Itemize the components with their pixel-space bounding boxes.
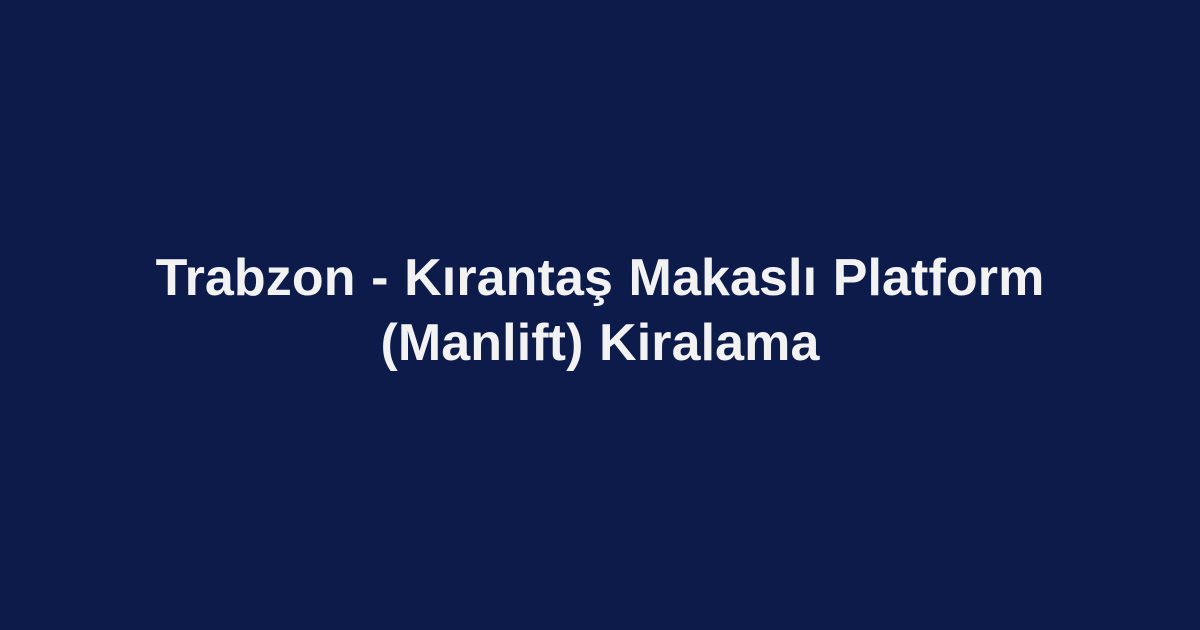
page-title: Trabzon - Kırantaş Makaslı Platform (Man… — [120, 246, 1080, 376]
share-card: Trabzon - Kırantaş Makaslı Platform (Man… — [0, 0, 1200, 630]
headline-block: Trabzon - Kırantaş Makaslı Platform (Man… — [120, 246, 1080, 376]
